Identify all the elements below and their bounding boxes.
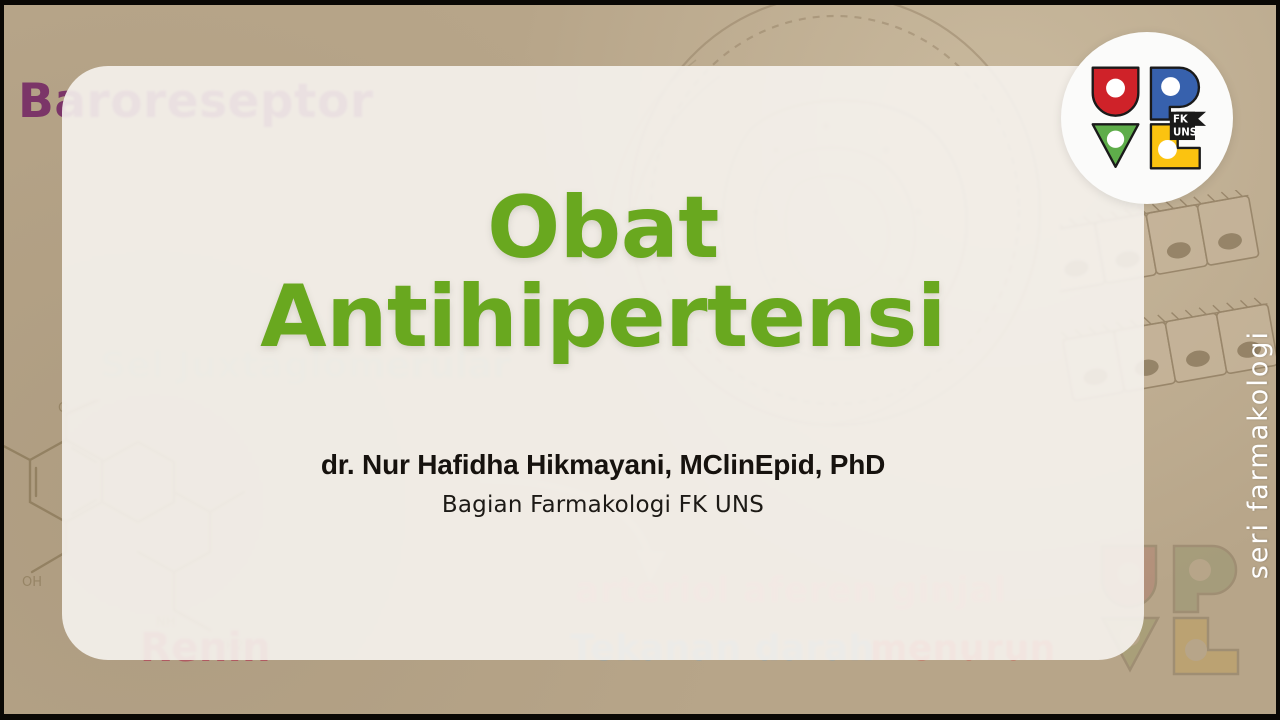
title-line-1: Obat — [260, 184, 946, 273]
author-department: Bagian Farmakologi FK UNS — [442, 492, 764, 518]
letterbox-bar-bottom — [0, 714, 1280, 720]
author-name: dr. Nur Hafidha Hikmayani, MClinEpid, Ph… — [321, 449, 885, 481]
svg-text:OH: OH — [22, 575, 42, 590]
fk-uns-tag: FK UNS — [1170, 112, 1206, 140]
svg-text:UNS: UNS — [1173, 127, 1197, 138]
svg-text:FK: FK — [1173, 115, 1189, 126]
letterbox-bar-right — [1276, 0, 1280, 720]
letterbox-bar-left — [0, 0, 4, 720]
logo-badge: FK UNS — [1061, 32, 1233, 204]
series-label: seri farmakologi — [1243, 330, 1274, 579]
panel-inner: Obat Antihipertensi dr. Nur Hafidha Hikm… — [62, 66, 1144, 660]
page-title: Obat Antihipertensi — [260, 184, 946, 363]
letterbox-bar-top — [0, 0, 1280, 5]
content-panel: Obat Antihipertensi dr. Nur Hafidha Hikm… — [62, 66, 1144, 660]
upvl-logo-icon: FK UNS — [1088, 62, 1206, 174]
slide-canvas: O OH NH NH2 Bar — [0, 0, 1280, 720]
title-line-2: Antihipertensi — [260, 273, 946, 362]
